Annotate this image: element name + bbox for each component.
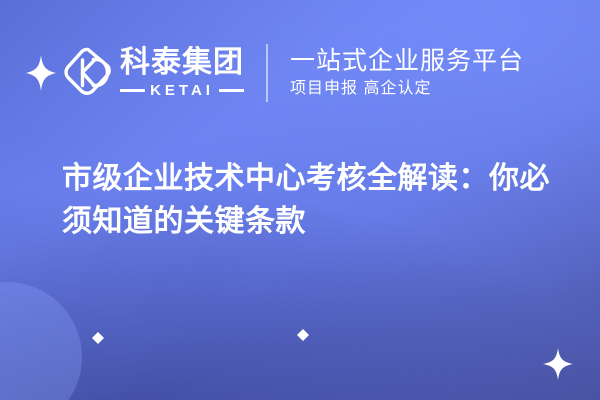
- tagline-main: 一站式企业服务平台: [290, 47, 524, 76]
- small-diamond-icon: [297, 329, 309, 341]
- small-diamond-icon: [92, 332, 104, 344]
- logo-wordmark: 科泰集团 KETAI: [120, 48, 244, 98]
- ketai-diamond-kd-logo-icon: [62, 45, 114, 101]
- four-point-star-icon: [543, 348, 573, 380]
- tagline-sub: 项目申报 高企认定: [290, 79, 524, 99]
- logo-name-en-row: KETAI: [120, 83, 244, 98]
- promo-banner: 科泰集团 KETAI 一站式企业服务平台 项目申报 高企认定 市级企业技术中心考…: [0, 0, 600, 400]
- logo-name-cn: 科泰集团: [120, 48, 244, 78]
- logo-name-en: KETAI: [145, 83, 219, 98]
- tagline-block: 一站式企业服务平台 项目申报 高企认定: [290, 47, 524, 100]
- header-divider: [266, 44, 268, 102]
- banner-header: 科泰集团 KETAI 一站式企业服务平台 项目申报 高企认定: [0, 34, 600, 112]
- logo-rule-left: [120, 89, 145, 92]
- circle-blob-decoration: [0, 282, 82, 400]
- four-point-star-icon: [26, 55, 56, 91]
- page-title: 市级企业技术中心考核全解读：你必须知道的关键条款: [62, 157, 562, 243]
- logo-rule-right: [219, 89, 244, 92]
